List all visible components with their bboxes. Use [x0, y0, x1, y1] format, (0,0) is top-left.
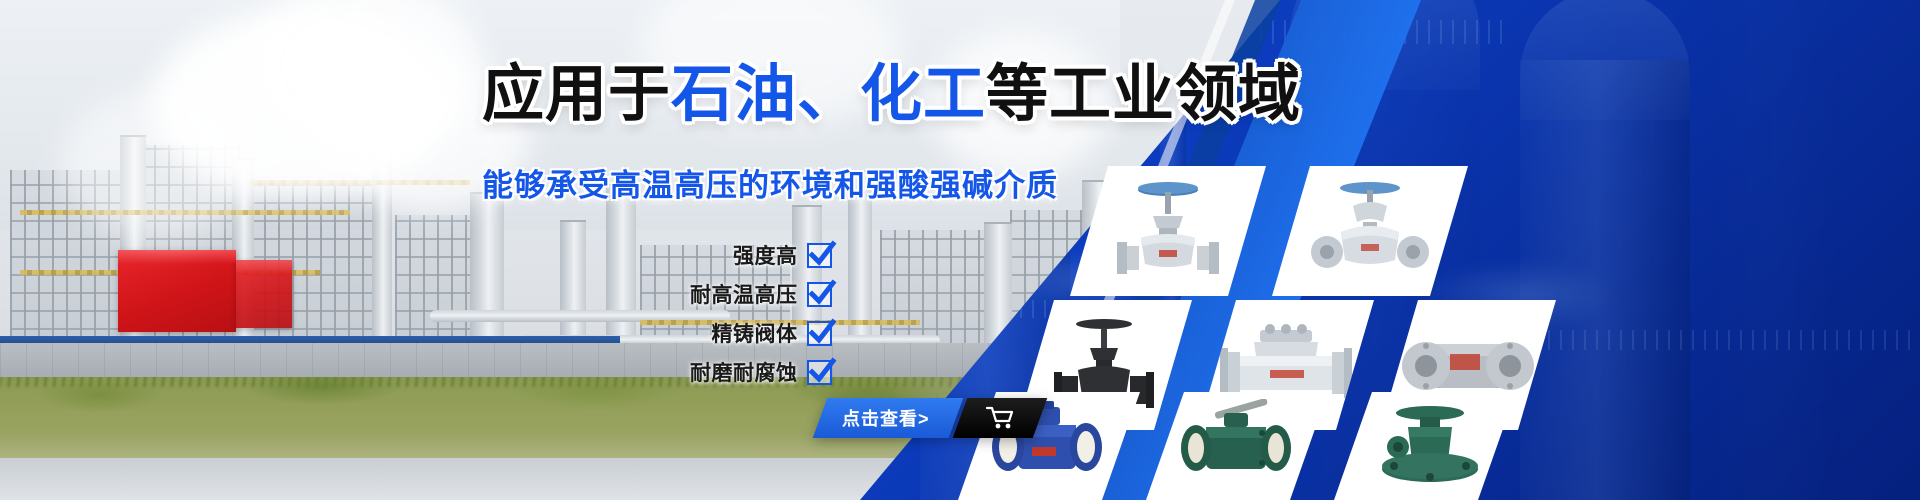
feature-label: 耐磨耐腐蚀: [690, 357, 798, 387]
checkbox-checked[interactable]: [807, 282, 832, 307]
gate-valve-flanged-icon: [1093, 176, 1243, 286]
globe-valve-flanged-icon: [1295, 176, 1445, 286]
shopping-cart-icon: [985, 405, 1015, 431]
product-cell-lined-ball-valve-green[interactable]: [1146, 392, 1328, 500]
feature-item: 耐磨耐腐蚀: [690, 357, 832, 387]
red-furnace-unit: [118, 250, 236, 332]
product-cell-plug-valve-green[interactable]: [1334, 392, 1516, 500]
headline-highlight: 石油、化工: [671, 60, 986, 129]
lined-ball-valve-green-icon: [1162, 399, 1312, 494]
feature-label: 强度高: [733, 240, 798, 270]
check-icon: [806, 316, 838, 348]
view-details-button[interactable]: 点击查看>: [813, 398, 963, 438]
feature-label: 精铸阀体: [712, 318, 798, 348]
headline-part2: 等工业领域: [986, 60, 1301, 129]
checkbox-checked[interactable]: [807, 321, 832, 346]
cta-label: 点击查看>: [842, 405, 930, 431]
check-icon: [806, 355, 838, 387]
shopping-cart-button[interactable]: [952, 398, 1047, 438]
banner-subheadline: 能够承受高温高压的环境和强酸强碱介质: [482, 160, 1058, 205]
feature-item: 耐高温高压: [690, 279, 832, 309]
check-icon: [806, 238, 838, 270]
product-cell-gate-valve-flanged[interactable]: [1070, 166, 1266, 296]
banner-headline: 应用于石油、化工等工业领域: [482, 62, 1301, 129]
feature-checklist: 强度高 耐高温高压 精铸阀体 耐磨耐腐蚀: [690, 240, 832, 387]
product-cell-globe-valve-flanged[interactable]: [1272, 166, 1468, 296]
checkbox-checked[interactable]: [807, 243, 832, 268]
feature-item: 精铸阀体: [712, 318, 832, 348]
feature-item: 强度高: [733, 240, 832, 270]
cta-button-group[interactable]: 点击查看>: [820, 398, 1040, 438]
check-icon: [806, 277, 838, 309]
feature-label: 耐高温高压: [690, 279, 798, 309]
checkbox-checked[interactable]: [807, 360, 832, 385]
promo-banner: 应用于石油、化工等工业领域 能够承受高温高压的环境和强酸强碱介质 强度高 耐高温…: [0, 0, 1920, 500]
headline-part1: 应用于: [482, 60, 671, 129]
plug-valve-green-icon: [1350, 399, 1500, 494]
